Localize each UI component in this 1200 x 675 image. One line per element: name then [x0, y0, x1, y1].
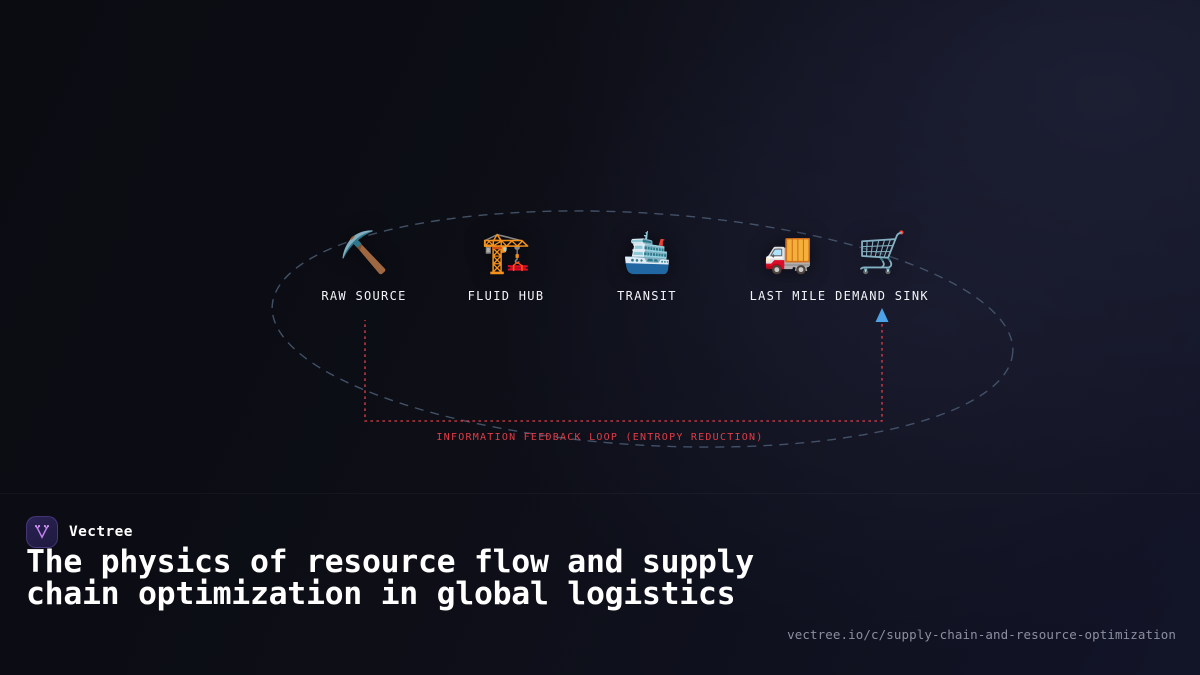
card-footer: Vectree The physics of resource flow and… [0, 493, 1200, 675]
node-demand-sink[interactable]: 🛒 DEMAND SINK [787, 228, 977, 303]
permalink-url[interactable]: vectree.io/c/supply-chain-and-resource-o… [787, 627, 1176, 642]
brand-name: Vectree [69, 524, 133, 540]
page-title: The physics of resource flow and supply … [26, 546, 761, 610]
feedback-loop-label: INFORMATION FEEDBACK LOOP (ENTROPY REDUC… [0, 432, 1200, 443]
node-label-demand-sink: DEMAND SINK [787, 289, 977, 303]
feedback-loop-path [365, 318, 882, 421]
share-card: ⛏️ RAW SOURCE 🏗️ FLUID HUB 🛳️ TRANSIT 🚚 … [0, 0, 1200, 675]
shopping-cart-icon: 🛒 [787, 228, 977, 280]
node-row: ⛏️ RAW SOURCE 🏗️ FLUID HUB 🛳️ TRANSIT 🚚 … [0, 228, 1200, 328]
supply-chain-diagram: ⛏️ RAW SOURCE 🏗️ FLUID HUB 🛳️ TRANSIT 🚚 … [0, 0, 1200, 493]
